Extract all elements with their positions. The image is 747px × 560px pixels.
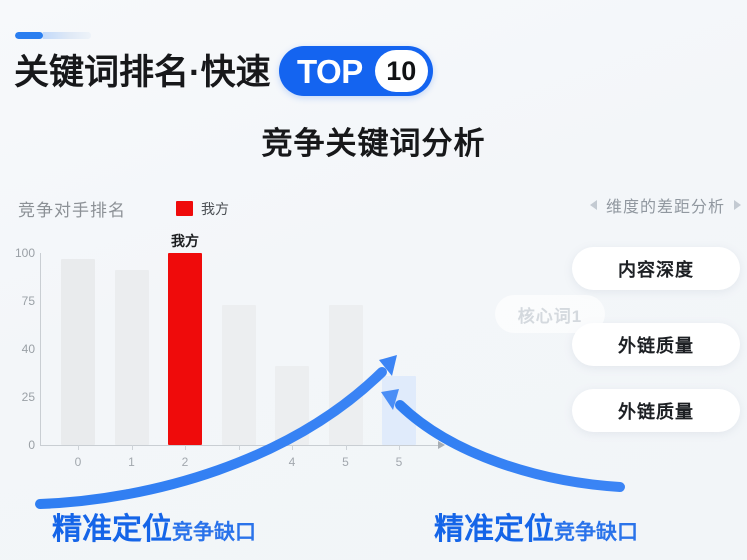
core-keyword-ghost-pill: 核心词1	[495, 295, 605, 333]
bar	[222, 305, 256, 445]
highlight-bar-label: 我方	[155, 231, 215, 251]
x-axis-tick-mark	[78, 445, 79, 450]
chart-plot-area: 1007540250 我方 0123455	[0, 241, 480, 481]
legend-swatch-icon	[176, 201, 193, 216]
triangle-right-icon	[734, 200, 741, 210]
page-title: 关键词排名·快速	[14, 44, 271, 100]
x-axis-tick-mark	[185, 445, 186, 450]
legend-label: 我方	[201, 199, 229, 219]
bar	[382, 376, 416, 445]
y-axis-tick-label: 25	[0, 390, 35, 404]
x-axis-line	[40, 445, 440, 446]
x-axis-tick-label: 3	[224, 455, 254, 469]
progress-indicator-fill	[15, 32, 43, 39]
y-axis-tick-label: 0	[0, 438, 35, 452]
page-subtitle: 竞争关键词分析	[0, 118, 747, 163]
x-axis-arrow-icon	[438, 441, 445, 449]
x-axis-tick-label: 2	[170, 455, 200, 469]
y-axis-line	[40, 253, 41, 445]
dimension-gap-panel: 维度的差距分析 内容深度外链质量外链质量 核心词1	[500, 185, 747, 465]
bar-highlight-my-side	[168, 253, 202, 445]
top-badge-number: 10	[375, 50, 428, 92]
dimension-panel-header: 维度的差距分析	[500, 193, 741, 217]
bar	[329, 305, 363, 445]
x-axis-tick-label: 1	[117, 455, 147, 469]
caption-left-strong: 精准定位	[52, 504, 172, 548]
caption-left: 精准定位 竞争缺口	[52, 504, 256, 548]
triangle-left-icon	[590, 200, 597, 210]
page-title-text: 关键词排名·快速	[14, 55, 271, 90]
caption-right: 精准定位 竞争缺口	[434, 504, 638, 548]
dimension-pill[interactable]: 外链质量	[572, 389, 740, 432]
y-axis-tick-label: 100	[0, 246, 35, 260]
x-axis-tick-label: 5	[331, 455, 361, 469]
progress-indicator-trail	[43, 32, 91, 39]
top-badge-word: TOP	[297, 55, 375, 88]
x-axis-tick-label: 5	[384, 455, 414, 469]
bar	[61, 259, 95, 445]
x-axis-tick-mark	[346, 445, 347, 450]
progress-indicator	[15, 32, 91, 39]
chart-header-row: 竞争对手排名 我方	[18, 196, 229, 221]
bar	[275, 366, 309, 445]
dimension-pill[interactable]: 内容深度	[572, 247, 740, 290]
y-axis-tick-label: 40	[0, 342, 35, 356]
caption-left-sub: 竞争缺口	[172, 516, 256, 546]
caption-right-sub: 竞争缺口	[554, 516, 638, 546]
bar	[115, 270, 149, 445]
top-rank-badge: TOP 10	[279, 46, 433, 96]
chart-section-title: 竞争对手排名	[18, 196, 126, 221]
x-axis-tick-mark	[239, 445, 240, 450]
dimension-pill[interactable]: 外链质量	[572, 323, 740, 366]
competitor-rank-chart: 竞争对手排名 我方 1007540250 我方 0123455	[0, 185, 480, 485]
dimension-panel-title: 维度的差距分析	[606, 193, 725, 217]
chart-legend: 我方	[176, 199, 229, 219]
x-axis-tick-mark	[132, 445, 133, 450]
caption-right-strong: 精准定位	[434, 504, 554, 548]
x-axis-tick-label: 0	[63, 455, 93, 469]
y-axis-tick-label: 75	[0, 294, 35, 308]
x-axis-tick-mark	[399, 445, 400, 450]
x-axis-tick-mark	[292, 445, 293, 450]
x-axis-tick-label: 4	[277, 455, 307, 469]
